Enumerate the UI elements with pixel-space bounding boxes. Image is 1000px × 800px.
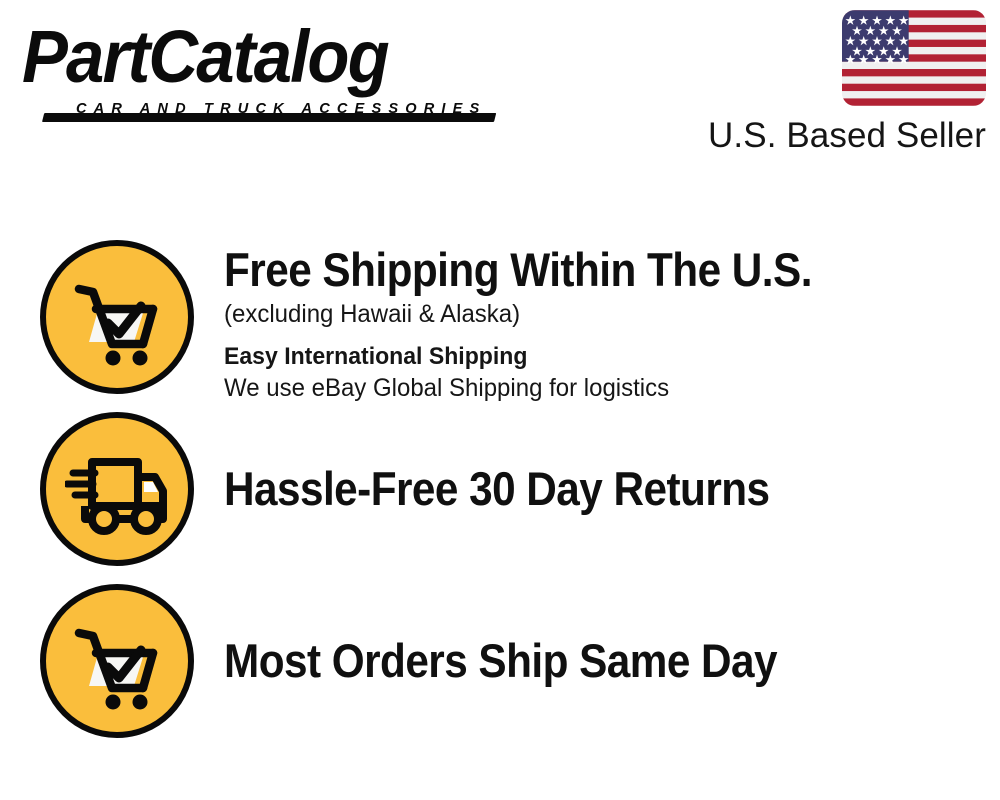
feature-title: Hassle-Free 30 Day Returns — [224, 461, 770, 517]
feature-subtext: We use eBay Global Shipping for logistic… — [224, 372, 851, 405]
feature-row: Most Orders Ship Same Day — [40, 584, 838, 738]
delivery-truck-icon — [40, 412, 194, 566]
us-based-seller-label: U.S. Based Seller — [686, 115, 986, 157]
shopping-cart-check-icon — [40, 584, 194, 738]
shopping-cart-check-icon — [40, 240, 194, 394]
feature-row: Hassle-Free 30 Day Returns — [40, 412, 830, 566]
feature-text-block: Most Orders Ship Same Day — [194, 633, 838, 689]
feature-row: Free Shipping Within The U.S. (excluding… — [40, 240, 877, 405]
us-based-seller-badge: U.S. Based Seller — [686, 10, 986, 157]
feature-title: Most Orders Ship Same Day — [224, 633, 777, 689]
feature-text-block: Hassle-Free 30 Day Returns — [194, 461, 830, 517]
brand-tagline: CAR AND TRUCK ACCESSORIES — [76, 100, 486, 117]
us-flag-icon — [842, 10, 986, 106]
feature-note: (excluding Hawaii & Alaska) — [224, 298, 851, 331]
brand-wordmark: PartCatalog — [22, 18, 388, 96]
shipping-info-banner: PartCatalog CAR AND TRUCK ACCESSORIES — [0, 0, 1000, 800]
brand-logo: PartCatalog CAR AND TRUCK ACCESSORIES — [22, 18, 492, 118]
feature-title: Free Shipping Within The U.S. — [224, 242, 812, 298]
feature-text-block: Free Shipping Within The U.S. (excluding… — [194, 240, 877, 405]
feature-subheading: Easy International Shipping — [224, 341, 851, 372]
